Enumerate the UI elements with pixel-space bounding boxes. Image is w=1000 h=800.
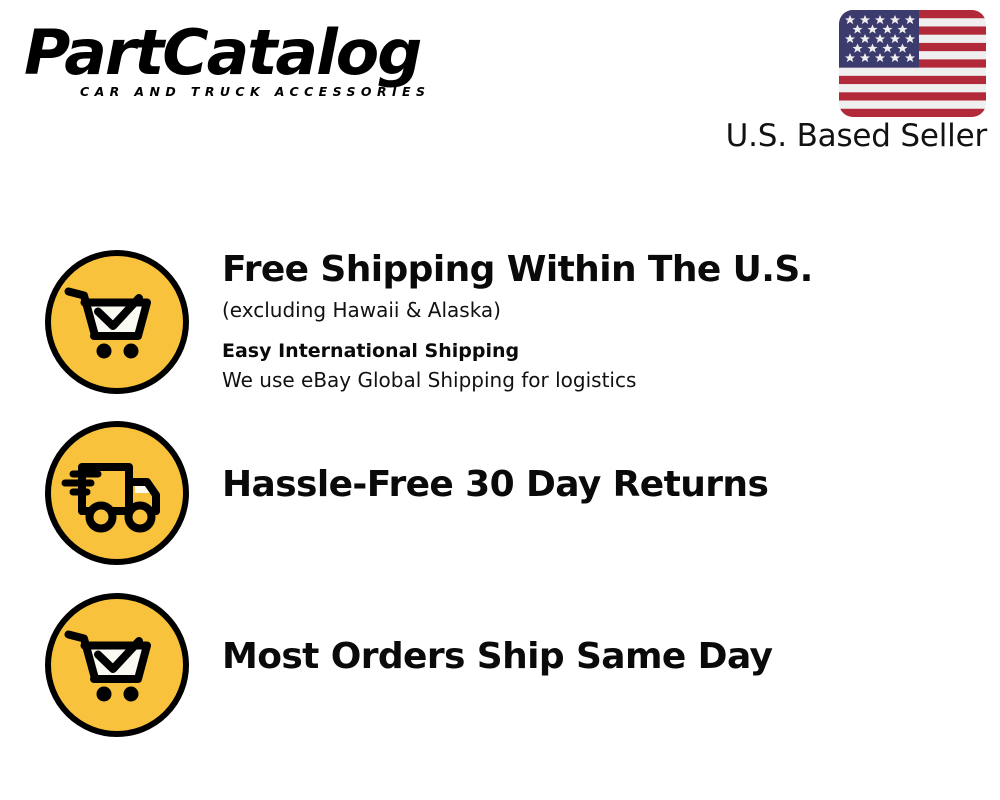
feature-row: Most Orders Ship Same Day: [0, 591, 1000, 739]
feature-text-block: Most Orders Ship Same Day: [222, 591, 772, 679]
feature-row: Hassle-Free 30 Day Returns: [0, 419, 1000, 567]
shopping-cart-check-icon: [43, 248, 191, 396]
promo-banner: PartCatalog CAR AND TRUCK ACCESSORIES: [0, 0, 1000, 800]
feature-title: Most Orders Ship Same Day: [222, 635, 772, 679]
feature-title: Free Shipping Within The U.S.: [222, 248, 813, 292]
feature-subtitle: (excluding Hawaii & Alaska): [222, 295, 813, 325]
shopping-cart-check-icon: [43, 591, 191, 739]
feature-secondary-title: Easy International Shipping: [222, 337, 813, 365]
feature-secondary-body: We use eBay Global Shipping for logistic…: [222, 366, 813, 395]
feature-title: Hassle-Free 30 Day Returns: [222, 463, 768, 507]
feature-text-block: Free Shipping Within The U.S. (excluding…: [222, 248, 813, 395]
us-flag-icon: [839, 10, 986, 117]
us-based-seller-label: U.S. Based Seller: [725, 118, 987, 154]
feature-text-block: Hassle-Free 30 Day Returns: [222, 419, 768, 507]
feature-row: Free Shipping Within The U.S. (excluding…: [0, 248, 1000, 396]
brand-wordmark: PartCatalog: [24, 18, 503, 88]
partcatalog-logo: PartCatalog CAR AND TRUCK ACCESSORIES: [24, 18, 494, 118]
delivery-truck-icon: [43, 419, 191, 567]
